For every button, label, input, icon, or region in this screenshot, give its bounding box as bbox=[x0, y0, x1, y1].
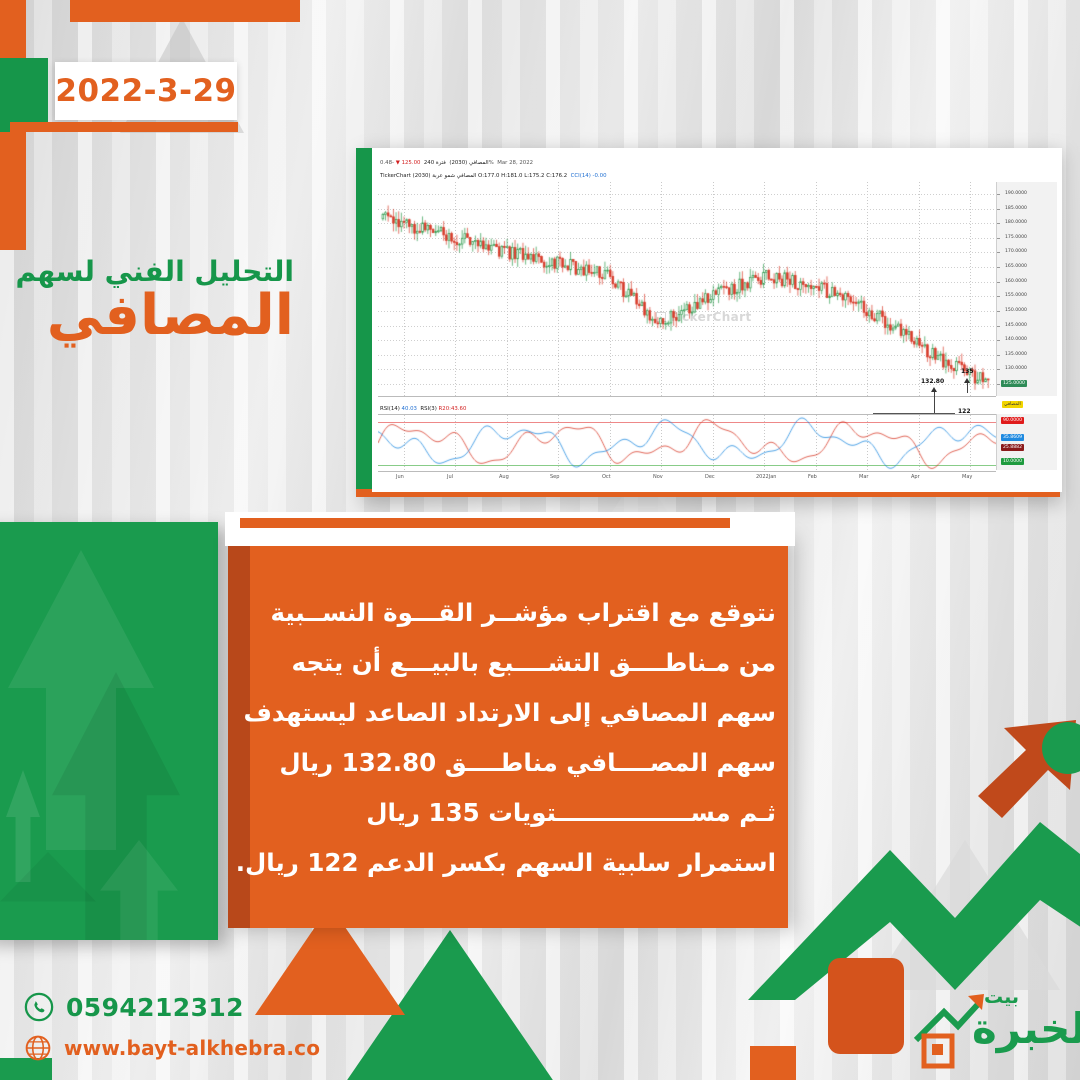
price-axis-label: 190.0000 bbox=[1005, 191, 1027, 196]
chart-interval[interactable]: فترة 240 bbox=[424, 160, 446, 166]
price-axis-label: 165.0000 bbox=[1005, 264, 1027, 269]
x-axis-label: 2022Jan bbox=[756, 474, 776, 480]
arrow-up-icon-5 bbox=[0, 852, 96, 940]
rsi-label-1[interactable]: RSI(14) bbox=[380, 406, 400, 412]
annotation-132-stem bbox=[934, 392, 935, 414]
analysis-text: نتوقع مع اقتراب مؤشــر القـــوة النســبي… bbox=[256, 588, 776, 888]
chart-close: C:176.2 bbox=[546, 173, 567, 179]
price-axis-label: 160.0000 bbox=[1005, 279, 1027, 284]
price-axis-tick bbox=[997, 296, 1000, 297]
logo-word-main: الخبرة bbox=[972, 1004, 1080, 1053]
footer-website[interactable]: www.bayt-alkhebra.co bbox=[24, 1034, 320, 1062]
price-pane[interactable]: TickerChart 132.80 135 122 bbox=[378, 182, 996, 397]
price-axis-label: 140.0000 bbox=[1005, 337, 1027, 342]
price-axis-label: 135.0000 bbox=[1005, 352, 1027, 357]
price-axis-label: 185.0000 bbox=[1005, 206, 1027, 211]
price-axis-label: 175.0000 bbox=[1005, 235, 1027, 240]
date-badge-green-block bbox=[0, 58, 48, 132]
logo-house-window-icon bbox=[932, 1044, 943, 1055]
date-badge-label: 2022-3-29 bbox=[55, 73, 236, 109]
green-arrows-panel bbox=[0, 522, 218, 940]
price-axis-label: 155.0000 bbox=[1005, 293, 1027, 298]
price-axis-tick bbox=[997, 238, 1000, 239]
price-axis-tick bbox=[997, 252, 1000, 253]
page-title-top: التحليل الفني لسهم bbox=[15, 258, 294, 286]
price-axis-tick bbox=[997, 311, 1000, 312]
chart-quote-date: Mar 28, 2022 bbox=[497, 160, 533, 166]
chart-source-label: TickerChart bbox=[380, 173, 411, 179]
chart-header-line2: TickerChart المصافي شمو عربة (2030) O:17… bbox=[380, 173, 607, 179]
price-axis-tick bbox=[997, 267, 1000, 268]
price-axis-tick bbox=[997, 355, 1000, 356]
x-axis-label: Aug bbox=[499, 474, 509, 480]
price-axis-label: 130.0000 bbox=[1005, 366, 1027, 371]
x-axis-label: Sep bbox=[550, 474, 559, 480]
price-axis[interactable]: 190.0000185.0000180.0000175.0000170.0000… bbox=[996, 182, 1057, 396]
price-axis-tick bbox=[997, 369, 1000, 370]
x-axis-label: Mar bbox=[859, 474, 868, 480]
x-axis-label: Jun bbox=[396, 474, 404, 480]
rsi-pill-25: 25.8882 bbox=[1001, 444, 1024, 451]
chart-symbol-code: (2030) bbox=[449, 160, 467, 166]
page-title: التحليل الفني لسهم المصافي bbox=[15, 258, 294, 344]
orange-block-bottom bbox=[750, 1046, 796, 1080]
green-zigzag-arrow-icon bbox=[748, 822, 1080, 1000]
chart-viewport[interactable]: المصافي (2030) فترة 240 125.00 ▼ -0.48% … bbox=[372, 148, 1062, 492]
annotation-135-label: 135 bbox=[961, 368, 974, 375]
chart-indicator-label[interactable]: CCI(14) bbox=[571, 173, 591, 179]
x-axis-label: Jul bbox=[447, 474, 453, 480]
annotation-135-stem bbox=[967, 383, 968, 393]
rsi-axis[interactable]: 90.0000 35.8609 25.8882 10.0000 bbox=[996, 414, 1057, 470]
orange-rounded-square bbox=[828, 958, 904, 1054]
chart-x-axis: JunJulAugSepOctNovDec2022JanFebMarAprMay bbox=[378, 471, 996, 487]
page-title-main: المصافي bbox=[15, 288, 294, 344]
chart-change-arrow-icon: ▼ bbox=[396, 160, 400, 166]
x-axis-label: May bbox=[962, 474, 972, 480]
x-axis-label: Oct bbox=[602, 474, 611, 480]
footer-website-url: www.bayt-alkhebra.co bbox=[64, 1036, 320, 1060]
price-axis-tick bbox=[997, 223, 1000, 224]
chart-open: O:177.0 bbox=[478, 173, 499, 179]
price-pill-last: 125.0000 bbox=[1001, 380, 1027, 387]
chart-last-price: 125.00 bbox=[402, 160, 421, 166]
rsi-label-2[interactable]: RSI(3) bbox=[420, 406, 436, 412]
price-axis-label: 150.0000 bbox=[1005, 308, 1027, 313]
chart-symbol-name: المصافي bbox=[469, 160, 489, 166]
poster-canvas: 2022-3-29 التحليل الفني لسهم المصافي الم… bbox=[0, 0, 1080, 1080]
date-badge: 2022-3-29 bbox=[55, 62, 237, 120]
chart-card: المصافي (2030) فترة 240 125.00 ▼ -0.48% … bbox=[372, 148, 1062, 492]
rsi-pill-10: 10.0000 bbox=[1001, 458, 1024, 465]
price-axis-tick bbox=[997, 340, 1000, 341]
rsi-series bbox=[378, 415, 996, 471]
analysis-line-5: ثـم مســــــــــــــــتويات 135 ريال bbox=[256, 788, 776, 838]
chart-desc: المصافي شمو عربة bbox=[432, 173, 476, 179]
orange-panel-top-accent bbox=[240, 518, 730, 528]
price-axis-tick bbox=[997, 209, 1000, 210]
x-axis-label: Nov bbox=[653, 474, 663, 480]
decorative-growth-arrows bbox=[740, 600, 1080, 1000]
rsi-header: RSI(14) 40.03 RSI(3) R20:43.60 bbox=[380, 406, 466, 412]
globe-icon bbox=[24, 1034, 52, 1062]
chart-card-green-edge bbox=[356, 148, 372, 496]
rsi-value-2: R20:43.60 bbox=[439, 406, 467, 412]
rsi-pill-35: 35.8609 bbox=[1001, 434, 1024, 441]
price-axis-label: 145.0000 bbox=[1005, 323, 1027, 328]
price-pill-symbol: المصافي bbox=[1002, 401, 1023, 408]
chart-header-line1: المصافي (2030) فترة 240 125.00 ▼ -0.48% … bbox=[380, 160, 533, 166]
candlestick-series bbox=[378, 182, 996, 396]
chart-indicator-value: -0.00 bbox=[593, 173, 607, 179]
date-badge-underline bbox=[10, 122, 238, 132]
chart-low: L:175.2 bbox=[524, 173, 544, 179]
rsi-pane[interactable] bbox=[378, 414, 996, 472]
analysis-line-4: سهم المصــــافي مناطــــق 132.80 ريال bbox=[256, 738, 776, 788]
x-axis-label: Dec bbox=[705, 474, 715, 480]
price-axis-label: 180.0000 bbox=[1005, 220, 1027, 225]
price-axis-label: 170.0000 bbox=[1005, 249, 1027, 254]
x-axis-label: Apr bbox=[911, 474, 920, 480]
arrow-up-icon-3 bbox=[6, 770, 40, 882]
footer-phone[interactable]: 0594212312 bbox=[24, 992, 244, 1022]
rsi-value-1: 40.03 bbox=[402, 406, 417, 412]
annotation-132-label: 132.80 bbox=[921, 378, 944, 385]
analysis-line-3: سهم المصافي إلى الارتداد الصاعد ليستهدف bbox=[256, 688, 776, 738]
analysis-line-6: استمرار سلبية السهم بكسر الدعم 122 ريال. bbox=[256, 838, 776, 888]
footer-phone-number: 0594212312 bbox=[66, 993, 244, 1022]
chart-desc-code: (2030) bbox=[413, 173, 431, 179]
price-axis-tick bbox=[997, 384, 1000, 385]
x-axis-label: Feb bbox=[808, 474, 817, 480]
whatsapp-icon bbox=[24, 992, 54, 1022]
rsi-pill-90: 90.0000 bbox=[1001, 417, 1024, 424]
price-axis-tick bbox=[997, 194, 1000, 195]
price-axis-tick bbox=[997, 326, 1000, 327]
analysis-line-2: من مـناطــــق التشــــبع بالبيـــع أن يت… bbox=[256, 638, 776, 688]
top-orange-bar bbox=[70, 0, 300, 22]
brand-logo[interactable]: بيت الخبرة bbox=[910, 978, 1070, 1074]
price-axis-tick bbox=[997, 282, 1000, 283]
analysis-line-1: نتوقع مع اقتراب مؤشــر القـــوة النســبي… bbox=[256, 588, 776, 638]
chart-high: H:181.0 bbox=[501, 173, 522, 179]
